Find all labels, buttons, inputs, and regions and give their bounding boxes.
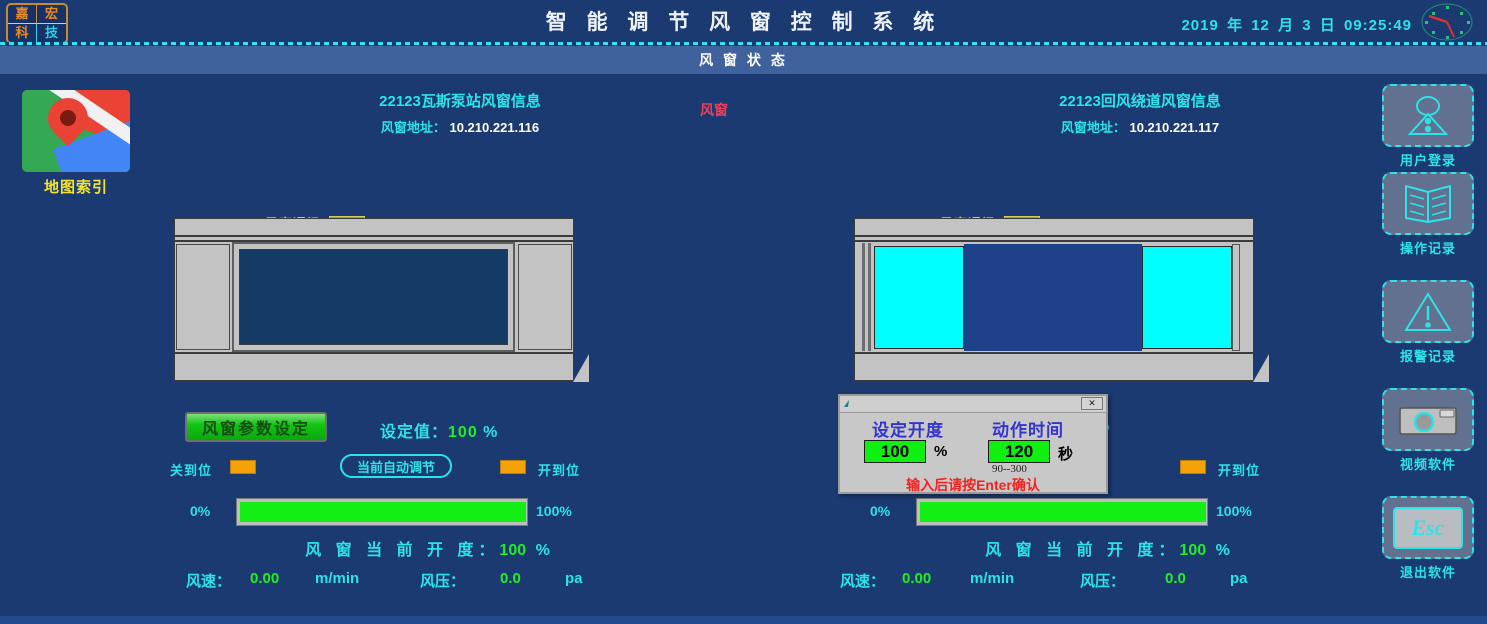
setpoint-value: 100 xyxy=(448,424,478,441)
opening-progress-row: 0% 100% xyxy=(168,498,748,526)
current-opening-unit: % xyxy=(536,542,555,559)
action-time-range: 90--300 xyxy=(992,463,1027,475)
opening-input[interactable]: 100 xyxy=(864,440,926,463)
user-icon xyxy=(1402,94,1454,138)
wind-speed-label: 风速： xyxy=(186,570,231,591)
date-day: 3 xyxy=(1302,17,1311,34)
panel-left: 22123瓦斯泵站风窗信息 风窗地址： 10.210.221.116 风窗通讯 … xyxy=(150,84,770,614)
dialog-close-button[interactable]: ✕ xyxy=(1081,397,1103,410)
panel-title: 22123回风绕道风窗信息 xyxy=(830,90,1450,111)
esc-key-icon: Esc xyxy=(1393,507,1463,549)
window-leaf-left xyxy=(874,246,964,349)
dialog-titlebar[interactable]: ✕ xyxy=(840,396,1106,413)
panel-address: 风窗地址： 10.210.221.116 xyxy=(150,117,770,136)
status-strip: 风 窗 状 态 xyxy=(0,46,1487,74)
wind-speed-unit: m/min xyxy=(970,570,1014,587)
top-bar: 嘉 宏 科 技 智 能 调 节 风 窗 控 制 系 统 2019 年 12 月 … xyxy=(0,0,1487,44)
sidebar-item-alarm-log[interactable] xyxy=(1382,280,1474,343)
dialog-note: 输入后请按Enter确认 xyxy=(840,475,1106,495)
sidebar-label-operation-log: 操作记录 xyxy=(1378,238,1478,257)
current-opening-value: 100 xyxy=(1179,542,1206,559)
bottom-bar xyxy=(0,616,1487,624)
action-time-label: 动作时间 xyxy=(992,416,1064,441)
closed-position-lamp xyxy=(230,460,256,474)
window-graphic-closed xyxy=(174,218,584,383)
window-graphic-open xyxy=(854,218,1264,383)
current-opening-unit: % xyxy=(1216,542,1235,559)
address-value: 10.210.221.117 xyxy=(1129,120,1219,135)
current-opening-display: 风 窗 当 前 开 度：100 % xyxy=(830,536,1390,560)
sidebar-item-user-login[interactable] xyxy=(1382,84,1474,147)
window-leaf-right xyxy=(1142,246,1232,349)
book-icon xyxy=(1401,182,1455,226)
action-time-unit: 秒 xyxy=(1058,443,1073,464)
address-label: 风窗地址： xyxy=(381,120,446,135)
open-position-label: 开到位 xyxy=(538,460,580,479)
camera-icon xyxy=(1396,400,1460,440)
wind-pressure-label: 风压： xyxy=(420,570,465,591)
header-divider xyxy=(0,42,1487,45)
date-month-unit: 月 xyxy=(1275,17,1297,34)
open-position-lamp xyxy=(1180,460,1206,474)
panel-right: 22123回风绕道风窗信息 风窗地址： 10.210.221.117 风窗通讯 … xyxy=(830,84,1450,614)
date-year-unit: 年 xyxy=(1224,17,1246,34)
map-index-button[interactable]: 地图索引 xyxy=(22,90,130,172)
open-position-label: 开到位 xyxy=(1218,460,1260,479)
auto-mode-badge: 当前自动调节 xyxy=(340,454,452,478)
current-opening-display: 风 窗 当 前 开 度：100 % xyxy=(150,536,710,560)
parameter-dialog[interactable]: ✕ 设定开度 动作时间 100 % 120 秒 90--300 输入后请按Ent… xyxy=(838,394,1108,494)
sidebar-item-video-software[interactable] xyxy=(1382,388,1474,451)
bar-min-label: 0% xyxy=(870,503,890,519)
map-index-label: 地图索引 xyxy=(22,176,130,197)
date-month: 12 xyxy=(1251,17,1270,34)
panel-title: 22123瓦斯泵站风窗信息 xyxy=(150,90,770,111)
wind-pressure-value: 0.0 xyxy=(500,570,521,587)
datetime-display: 2019 年 12 月 3 日 09:25:49 xyxy=(1181,14,1412,35)
wind-pressure-value: 0.0 xyxy=(1165,570,1186,587)
closed-position-label: 关到位 xyxy=(170,460,212,479)
position-row: 关到位 当前自动调节 开到位 xyxy=(170,458,730,480)
bar-max-label: 100% xyxy=(536,503,572,519)
wind-speed-unit: m/min xyxy=(315,570,359,587)
setpoint-display: 设定值：100 % xyxy=(380,418,498,442)
current-opening-label: 风 窗 当 前 开 度： xyxy=(305,542,499,559)
opening-setting-label: 设定开度 xyxy=(872,416,944,441)
clock-time: 09:25:49 xyxy=(1344,17,1412,34)
opening-progress-bar[interactable] xyxy=(916,498,1208,526)
wind-speed-value: 0.00 xyxy=(250,570,279,587)
current-opening-value: 100 xyxy=(499,542,526,559)
warning-triangle-icon xyxy=(1402,290,1454,334)
wind-pressure-unit: pa xyxy=(565,570,583,587)
opening-unit: % xyxy=(934,443,947,460)
setpoint-label: 设定值： xyxy=(380,424,448,441)
wind-speed-label: 风速： xyxy=(840,570,885,591)
sidebar-label-user-login: 用户登录 xyxy=(1378,150,1478,169)
sidebar-label-alarm-log: 报警记录 xyxy=(1378,346,1478,365)
window-pane xyxy=(239,249,508,345)
esc-key-text: Esc xyxy=(1412,515,1445,541)
current-opening-label: 风 窗 当 前 开 度： xyxy=(985,542,1179,559)
sidebar-label-video-software: 视频软件 xyxy=(1378,454,1478,473)
opening-progress-row: 0% 100% xyxy=(848,498,1428,526)
address-label: 风窗地址： xyxy=(1061,120,1126,135)
sidebar-item-exit-software[interactable]: Esc xyxy=(1382,496,1474,559)
status-strip-label: 风 窗 状 态 xyxy=(699,50,788,70)
opening-progress-fill xyxy=(920,502,1206,522)
opening-progress-fill xyxy=(240,502,526,522)
wind-speed-value: 0.00 xyxy=(902,570,931,587)
sidebar-label-exit-software: 退出软件 xyxy=(1378,562,1478,581)
opening-progress-bar[interactable] xyxy=(236,498,528,526)
bar-min-label: 0% xyxy=(190,503,210,519)
param-setting-button[interactable]: 风窗参数设定 xyxy=(185,412,327,442)
open-position-lamp xyxy=(500,460,526,474)
date-day-unit: 日 xyxy=(1317,17,1339,34)
address-value: 10.210.221.116 xyxy=(449,120,539,135)
clock-icon xyxy=(1417,2,1477,42)
panel-address: 风窗地址： 10.210.221.117 xyxy=(830,117,1450,136)
sidebar-item-operation-log[interactable] xyxy=(1382,172,1474,235)
wind-pressure-unit: pa xyxy=(1230,570,1248,587)
map-pin-icon xyxy=(22,90,130,172)
setpoint-unit: % xyxy=(483,424,498,441)
bar-max-label: 100% xyxy=(1216,503,1252,519)
sidebar: 用户登录 操作记录 报警记录 视频软件 Esc xyxy=(1378,84,1478,624)
wind-pressure-label: 风压： xyxy=(1080,570,1125,591)
dialog-app-icon xyxy=(843,398,855,410)
action-time-input[interactable]: 120 xyxy=(988,440,1050,463)
date-year: 2019 xyxy=(1181,17,1218,34)
